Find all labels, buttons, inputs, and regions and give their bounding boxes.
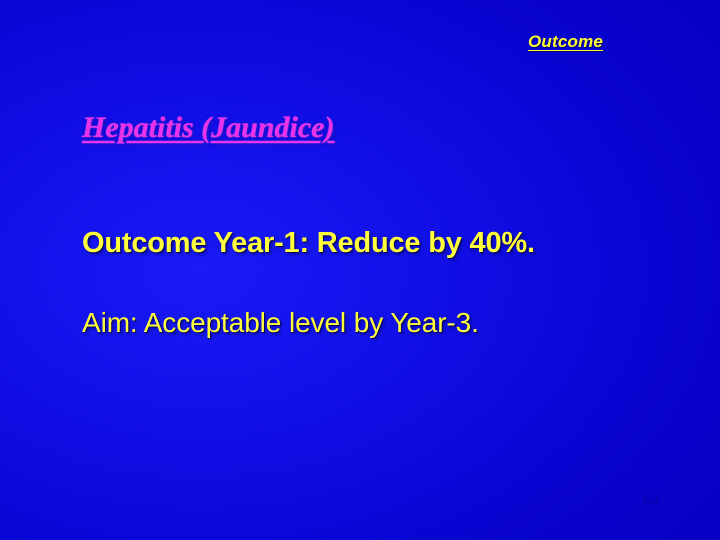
page-title: Hepatitis (Jaundice) <box>82 111 334 145</box>
slide-number: 54 <box>642 492 660 509</box>
slide-body: Outcome Year-1: Reduce by 40%. Aim: Acce… <box>82 228 682 338</box>
presentation-slide: Outcome Hepatitis (Jaundice) Outcome Yea… <box>0 0 720 540</box>
slide-running-header: Outcome <box>528 32 603 52</box>
body-line-outcome-year-1: Outcome Year-1: Reduce by 40%. <box>82 228 682 258</box>
body-line-aim-year-3: Aim: Acceptable level by Year-3. <box>82 308 682 337</box>
